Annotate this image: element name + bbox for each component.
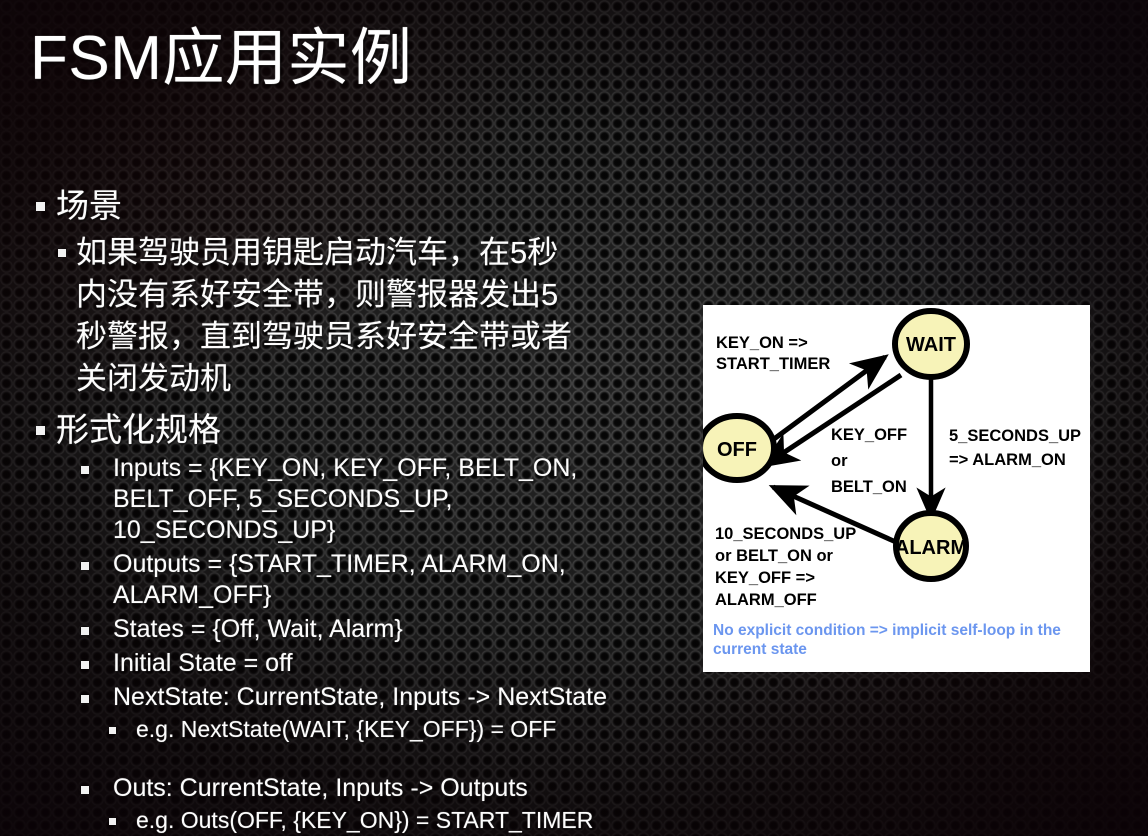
transition-label-5-seconds-up: 5_SECONDS_UP bbox=[949, 427, 1081, 445]
fsm-diagram-svg: WAIT OFF ALARM KEY_ON => START_TIMER KEY… bbox=[703, 305, 1090, 672]
bullet-outputs: Outputs = {START_TIMER, ALARM_ON, ALARM_… bbox=[81, 549, 696, 611]
bullet-text: 形式化规格 bbox=[56, 410, 221, 450]
bullet-text: e.g. Outs(OFF, {KEY_ON}) = START_TIMER bbox=[136, 806, 593, 835]
fsm-diagram-caption: No explicit condition => implicit self-l… bbox=[713, 621, 1085, 659]
transition-label-key-on: KEY_ON => bbox=[716, 334, 808, 352]
transition-label-start-timer: START_TIMER bbox=[716, 355, 830, 373]
bullet-initial-state: Initial State = off bbox=[81, 648, 696, 679]
bullet-text: States = {Off, Wait, Alarm} bbox=[113, 614, 403, 645]
transition-label-or-belt-on-or: or BELT_ON or bbox=[715, 547, 834, 565]
bullet-next-state: NextState: CurrentState, Inputs -> NextS… bbox=[81, 682, 696, 713]
bullet-square-icon bbox=[81, 466, 89, 474]
bullet-scene: 场景 bbox=[36, 186, 696, 226]
bullet-scene-description: 如果驾驶员用钥匙启动汽车，在5秒内没有系好安全带，则警报器发出5秒警报，直到驾驶… bbox=[58, 232, 696, 400]
bullet-next-state-example: e.g. NextState(WAIT, {KEY_OFF}) = OFF bbox=[109, 715, 696, 744]
bullet-formal-spec: 形式化规格 bbox=[36, 410, 696, 450]
bullet-text: Outputs = {START_TIMER, ALARM_ON, ALARM_… bbox=[113, 549, 566, 611]
transition-label-or: or bbox=[831, 452, 848, 470]
bullet-states: States = {Off, Wait, Alarm} bbox=[81, 614, 696, 645]
bullet-square-icon bbox=[36, 202, 45, 211]
bullet-outs-example: e.g. Outs(OFF, {KEY_ON}) = START_TIMER bbox=[109, 806, 696, 835]
bullet-square-icon bbox=[81, 627, 89, 635]
bullet-text: Inputs = {KEY_ON, KEY_OFF, BELT_ON, BELT… bbox=[113, 453, 577, 546]
slide-body: 场景 如果驾驶员用钥匙启动汽车，在5秒内没有系好安全带，则警报器发出5秒警报，直… bbox=[36, 186, 696, 835]
bullet-text: Outs: CurrentState, Inputs -> Outputs bbox=[113, 773, 528, 804]
transition-label-10-seconds-up: 10_SECONDS_UP bbox=[715, 525, 856, 543]
bullet-square-icon bbox=[36, 426, 45, 435]
bullet-inputs: Inputs = {KEY_ON, KEY_OFF, BELT_ON, BELT… bbox=[81, 453, 696, 546]
bullet-text: e.g. NextState(WAIT, {KEY_OFF}) = OFF bbox=[136, 715, 556, 744]
state-label-wait: WAIT bbox=[906, 334, 956, 356]
transition-label-alarm-on: => ALARM_ON bbox=[949, 451, 1066, 469]
slide-title: FSM应用实例 bbox=[30, 26, 412, 91]
bullet-text: 场景 bbox=[56, 186, 122, 226]
bullet-outs: Outs: CurrentState, Inputs -> Outputs bbox=[81, 773, 696, 804]
state-label-alarm: ALARM bbox=[895, 537, 967, 559]
bullet-square-icon bbox=[81, 695, 89, 703]
bullet-square-icon bbox=[81, 661, 89, 669]
transition-label-belt-on: BELT_ON bbox=[831, 478, 907, 496]
bullet-square-icon bbox=[109, 727, 116, 734]
state-label-off: OFF bbox=[717, 439, 757, 461]
bullet-text: Initial State = off bbox=[113, 648, 293, 679]
transition-label-key-off-arrow: KEY_OFF => bbox=[715, 569, 815, 587]
transition-label-key-off: KEY_OFF bbox=[831, 426, 907, 444]
bullet-square-icon bbox=[81, 562, 89, 570]
slide: FSM应用实例 场景 如果驾驶员用钥匙启动汽车，在5秒内没有系好安全带，则警报器… bbox=[0, 0, 1148, 836]
bullet-square-icon bbox=[109, 818, 116, 825]
transition-label-alarm-off: ALARM_OFF bbox=[715, 591, 817, 609]
bullet-spacer bbox=[36, 744, 696, 770]
bullet-text: 如果驾驶员用钥匙启动汽车，在5秒内没有系好安全带，则警报器发出5秒警报，直到驾驶… bbox=[76, 232, 576, 400]
bullet-square-icon bbox=[81, 786, 89, 794]
bullet-text: NextState: CurrentState, Inputs -> NextS… bbox=[113, 682, 607, 713]
fsm-state-diagram: WAIT OFF ALARM KEY_ON => START_TIMER KEY… bbox=[703, 305, 1090, 672]
bullet-square-icon bbox=[58, 249, 66, 257]
